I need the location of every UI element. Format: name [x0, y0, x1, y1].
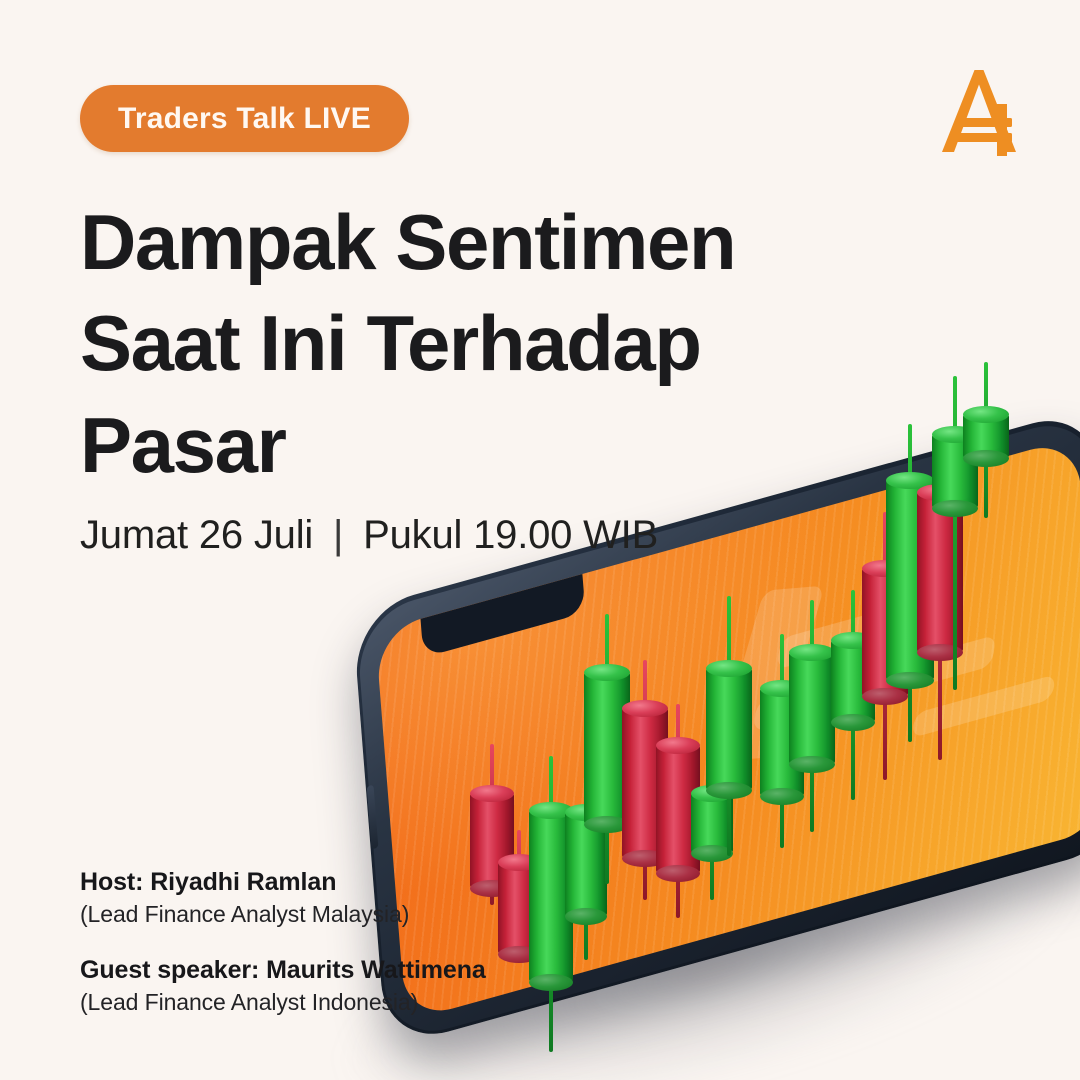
candle-body-top-cap: [706, 660, 752, 677]
candlestick-up: [789, 600, 835, 832]
candle-body: [789, 652, 835, 764]
credit-guest: Guest speaker: Maurits Wattimena (Lead F…: [80, 956, 486, 1016]
brand-logo: [934, 64, 1030, 160]
event-date: Jumat 26 Juli: [80, 513, 313, 557]
headline-line-1: Dampak Sentimen: [80, 192, 840, 293]
poster-canvas: Traders Talk LIVE Dampak Sentimen Saat I…: [0, 0, 1080, 1080]
headline-line-3: Pasar: [80, 395, 840, 496]
candle-body-top-cap: [470, 785, 514, 802]
page-title: Dampak Sentimen Saat Ini Terhadap Pasar: [80, 192, 840, 496]
candle-body-bottom-cap: [529, 974, 573, 991]
guest-role: (Lead Finance Analyst Indonesia): [80, 989, 486, 1016]
candle-body-bottom-cap: [963, 450, 1009, 467]
host-role: (Lead Finance Analyst Malaysia): [80, 901, 486, 928]
candlestick-up: [706, 596, 752, 856]
candle-body: [706, 668, 752, 790]
candle-body-bottom-cap: [706, 782, 752, 799]
speaker-credits: Host: Riyadhi Ramlan (Lead Finance Analy…: [80, 868, 486, 1044]
live-badge[interactable]: Traders Talk LIVE: [80, 85, 409, 152]
headline-line-2: Saat Ini Terhadap: [80, 293, 840, 394]
candle-wick: [953, 376, 957, 690]
a-currency-logo-icon: [934, 64, 1030, 160]
guest-name: Guest speaker: Maurits Wattimena: [80, 956, 486, 985]
candle-body-top-cap: [963, 406, 1009, 423]
schedule-separator: |: [324, 513, 352, 558]
candle-body-bottom-cap: [565, 908, 607, 925]
candle-body-bottom-cap: [789, 756, 835, 773]
event-schedule: Jumat 26 Juli | Pukul 19.00 WIB: [80, 513, 658, 558]
live-badge-label: Traders Talk LIVE: [118, 102, 371, 136]
event-time: Pukul 19.00 WIB: [363, 513, 658, 557]
credit-host: Host: Riyadhi Ramlan (Lead Finance Analy…: [80, 868, 486, 928]
candle-body-top-cap: [789, 644, 835, 661]
host-name: Host: Riyadhi Ramlan: [80, 868, 486, 897]
candlestick-up: [963, 362, 1009, 518]
